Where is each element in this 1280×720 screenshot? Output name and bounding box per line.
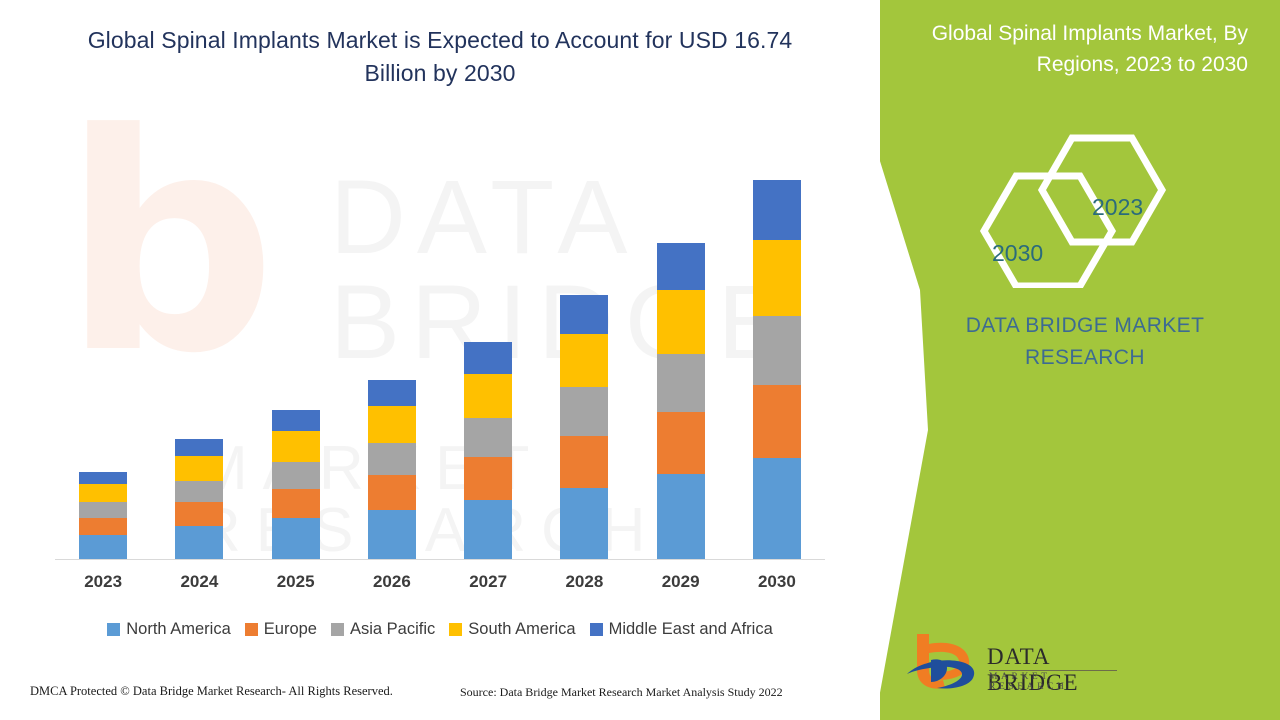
chart-plot-area <box>55 150 825 560</box>
legend-swatch-icon <box>590 623 603 636</box>
bar-segment <box>464 500 512 559</box>
legend-label: Europe <box>264 620 317 639</box>
x-tick-2024: 2024 <box>151 572 247 592</box>
bar-segment <box>272 462 320 489</box>
bar-segment <box>368 510 416 559</box>
bar-column-2027[interactable] <box>464 342 512 559</box>
bar-column-2028[interactable] <box>560 295 608 559</box>
hexagon-2023-label: 2023 <box>1092 194 1143 221</box>
bar-segment <box>272 410 320 431</box>
data-bridge-logo: DATA BRIDGE MARKET RESEARCH <box>905 630 1125 702</box>
bar-segment <box>560 387 608 436</box>
legend-item[interactable]: South America <box>449 620 575 639</box>
bar-segment <box>657 243 705 289</box>
bar-column-2024[interactable] <box>175 439 223 559</box>
bar-segment <box>175 456 223 481</box>
x-tick-2030: 2030 <box>729 572 825 592</box>
bar-segment <box>464 374 512 418</box>
bar-segment <box>560 334 608 387</box>
copyright-notice: DMCA Protected © Data Bridge Market Rese… <box>30 684 393 699</box>
page-title: Global Spinal Implants Market is Expecte… <box>60 24 820 90</box>
bar-segment <box>79 502 127 518</box>
x-tick-2026: 2026 <box>344 572 440 592</box>
bar-segment <box>368 406 416 442</box>
bar-column-2029[interactable] <box>657 243 705 559</box>
legend-item[interactable]: Asia Pacific <box>331 620 435 639</box>
bar-column-2023[interactable] <box>79 472 127 559</box>
bar-segment <box>368 443 416 476</box>
legend-item[interactable]: North America <box>107 620 231 639</box>
legend-label: North America <box>126 620 231 639</box>
bar-segment <box>175 481 223 502</box>
bar-segment <box>560 295 608 333</box>
hexagon-badges: 2023 2030 <box>962 128 1192 288</box>
bar-segment <box>753 458 801 559</box>
legend-swatch-icon <box>331 623 344 636</box>
bar-column-2030[interactable] <box>753 180 801 559</box>
bar-segment <box>79 472 127 484</box>
bar-segment <box>657 474 705 559</box>
x-axis-line <box>55 559 825 560</box>
x-axis-tick-labels: 20232024202520262027202820292030 <box>55 572 825 600</box>
x-tick-2025: 2025 <box>248 572 344 592</box>
bar-segment <box>79 518 127 535</box>
legend-label: South America <box>468 620 575 639</box>
bar-segment <box>272 518 320 559</box>
hexagon-2023-icon <box>1042 138 1162 242</box>
bar-segment <box>657 354 705 412</box>
data-bridge-b-mark-icon <box>905 630 983 692</box>
x-tick-2023: 2023 <box>55 572 151 592</box>
bar-segment <box>79 484 127 502</box>
x-tick-2028: 2028 <box>536 572 632 592</box>
bar-segment <box>560 488 608 559</box>
bar-segment <box>175 439 223 456</box>
legend-label: Asia Pacific <box>350 620 435 639</box>
bar-segment <box>464 457 512 500</box>
hexagon-2030-icon <box>984 176 1112 286</box>
bar-segment <box>753 240 801 316</box>
bar-segment <box>175 502 223 526</box>
brand-name: DATA BRIDGE MARKET RESEARCH <box>920 310 1250 374</box>
bar-segment <box>464 418 512 458</box>
chart-legend: North AmericaEuropeAsia PacificSouth Ame… <box>55 616 825 642</box>
legend-swatch-icon <box>245 623 258 636</box>
chart-panel: b DATA BRIDGE MARKET RESEARCH Global Spi… <box>0 0 880 720</box>
legend-swatch-icon <box>107 623 120 636</box>
bar-column-2025[interactable] <box>272 410 320 559</box>
bar-segment <box>560 436 608 488</box>
bar-segment <box>368 380 416 406</box>
legend-label: Middle East and Africa <box>609 620 773 639</box>
bar-column-2026[interactable] <box>368 380 416 559</box>
bar-segment <box>753 316 801 385</box>
legend-item[interactable]: Europe <box>245 620 317 639</box>
bar-segment <box>753 180 801 240</box>
x-tick-2027: 2027 <box>440 572 536 592</box>
side-panel-title: Global Spinal Implants Market, By Region… <box>858 18 1248 80</box>
legend-swatch-icon <box>449 623 462 636</box>
bar-segment <box>175 526 223 559</box>
bar-segment <box>79 535 127 559</box>
bar-segment <box>272 431 320 462</box>
x-tick-2029: 2029 <box>633 572 729 592</box>
source-note: Source: Data Bridge Market Research Mark… <box>460 685 783 700</box>
hexagon-2030-label: 2030 <box>992 240 1043 267</box>
bar-segment <box>657 290 705 354</box>
logo-sub-text: MARKET RESEARCH <box>989 672 1125 692</box>
bar-segment <box>368 475 416 510</box>
bar-segment <box>464 342 512 374</box>
legend-item[interactable]: Middle East and Africa <box>590 620 773 639</box>
bar-segment <box>272 489 320 518</box>
bar-segment <box>657 412 705 474</box>
bar-segment <box>753 385 801 459</box>
